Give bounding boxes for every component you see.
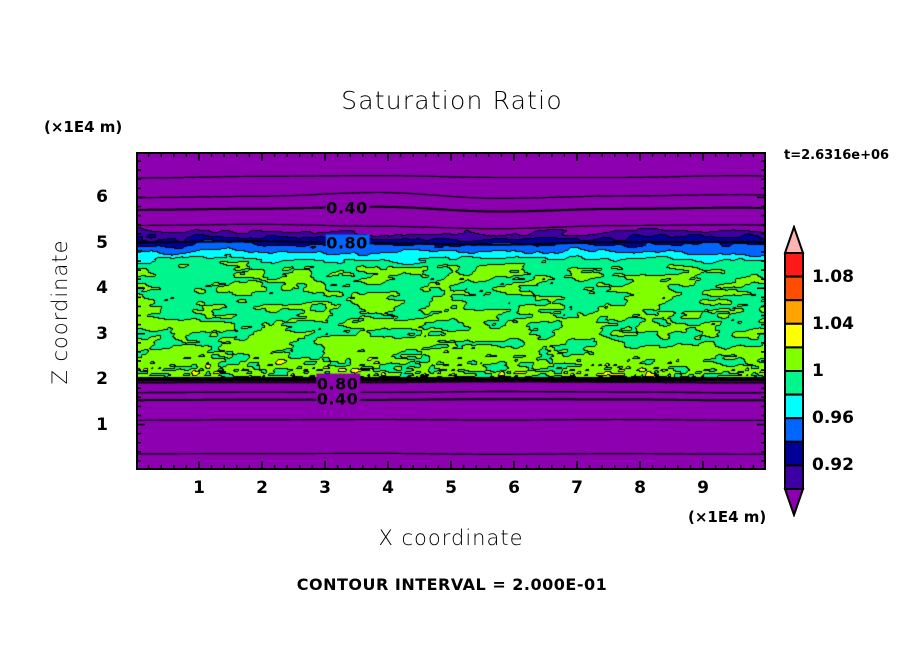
y-tick-label: 3 bbox=[96, 324, 108, 344]
x-tick-label: 4 bbox=[382, 478, 394, 498]
contour-field-canvas bbox=[138, 154, 764, 468]
y-tick-label: 5 bbox=[96, 233, 108, 253]
time-stamp: t=2.6316e+06 bbox=[784, 148, 889, 163]
colorbar-tick-label: 0.92 bbox=[812, 455, 854, 475]
y-axis-label: Z coordinate bbox=[48, 222, 72, 402]
x-tick-label: 2 bbox=[256, 478, 268, 498]
x-tick-label: 5 bbox=[445, 478, 457, 498]
contour-value-label: 0.40 bbox=[317, 390, 358, 409]
contour-interval-caption: CONTOUR INTERVAL = 2.000E-01 bbox=[0, 575, 904, 594]
colorbar-tick-label: 1.08 bbox=[812, 267, 854, 287]
x-tick-label: 1 bbox=[193, 478, 205, 498]
x-tick-label: 6 bbox=[508, 478, 520, 498]
contour-plot-area[interactable] bbox=[136, 152, 766, 470]
x-tick-label: 7 bbox=[571, 478, 583, 498]
x-axis-label: X coordinate bbox=[136, 526, 766, 550]
y-tick-label: 2 bbox=[96, 369, 108, 389]
x-tick-label: 3 bbox=[319, 478, 331, 498]
y-axis-unit-label: (×1E4 m) bbox=[44, 118, 122, 136]
y-tick-label: 1 bbox=[96, 415, 108, 435]
contour-value-label: 0.80 bbox=[326, 233, 367, 252]
colorbar[interactable] bbox=[782, 225, 806, 517]
y-tick-label: 4 bbox=[96, 278, 108, 298]
figure-root: Saturation Ratio (×1E4 m) t=2.6316e+06 0… bbox=[0, 0, 904, 654]
colorbar-tick-label: 1 bbox=[812, 361, 824, 381]
contour-value-label: 0.40 bbox=[326, 198, 367, 217]
colorbar-tick-labels: 1.081.0410.960.92 bbox=[812, 225, 902, 517]
x-tick-label: 8 bbox=[634, 478, 646, 498]
colorbar-tick-label: 1.04 bbox=[812, 314, 854, 334]
x-axis-unit-label: (×1E4 m) bbox=[688, 508, 766, 526]
colorbar-tick-label: 0.96 bbox=[812, 408, 854, 428]
y-tick-label: 6 bbox=[96, 187, 108, 207]
page-title: Saturation Ratio bbox=[0, 86, 904, 115]
x-tick-label: 9 bbox=[697, 478, 709, 498]
